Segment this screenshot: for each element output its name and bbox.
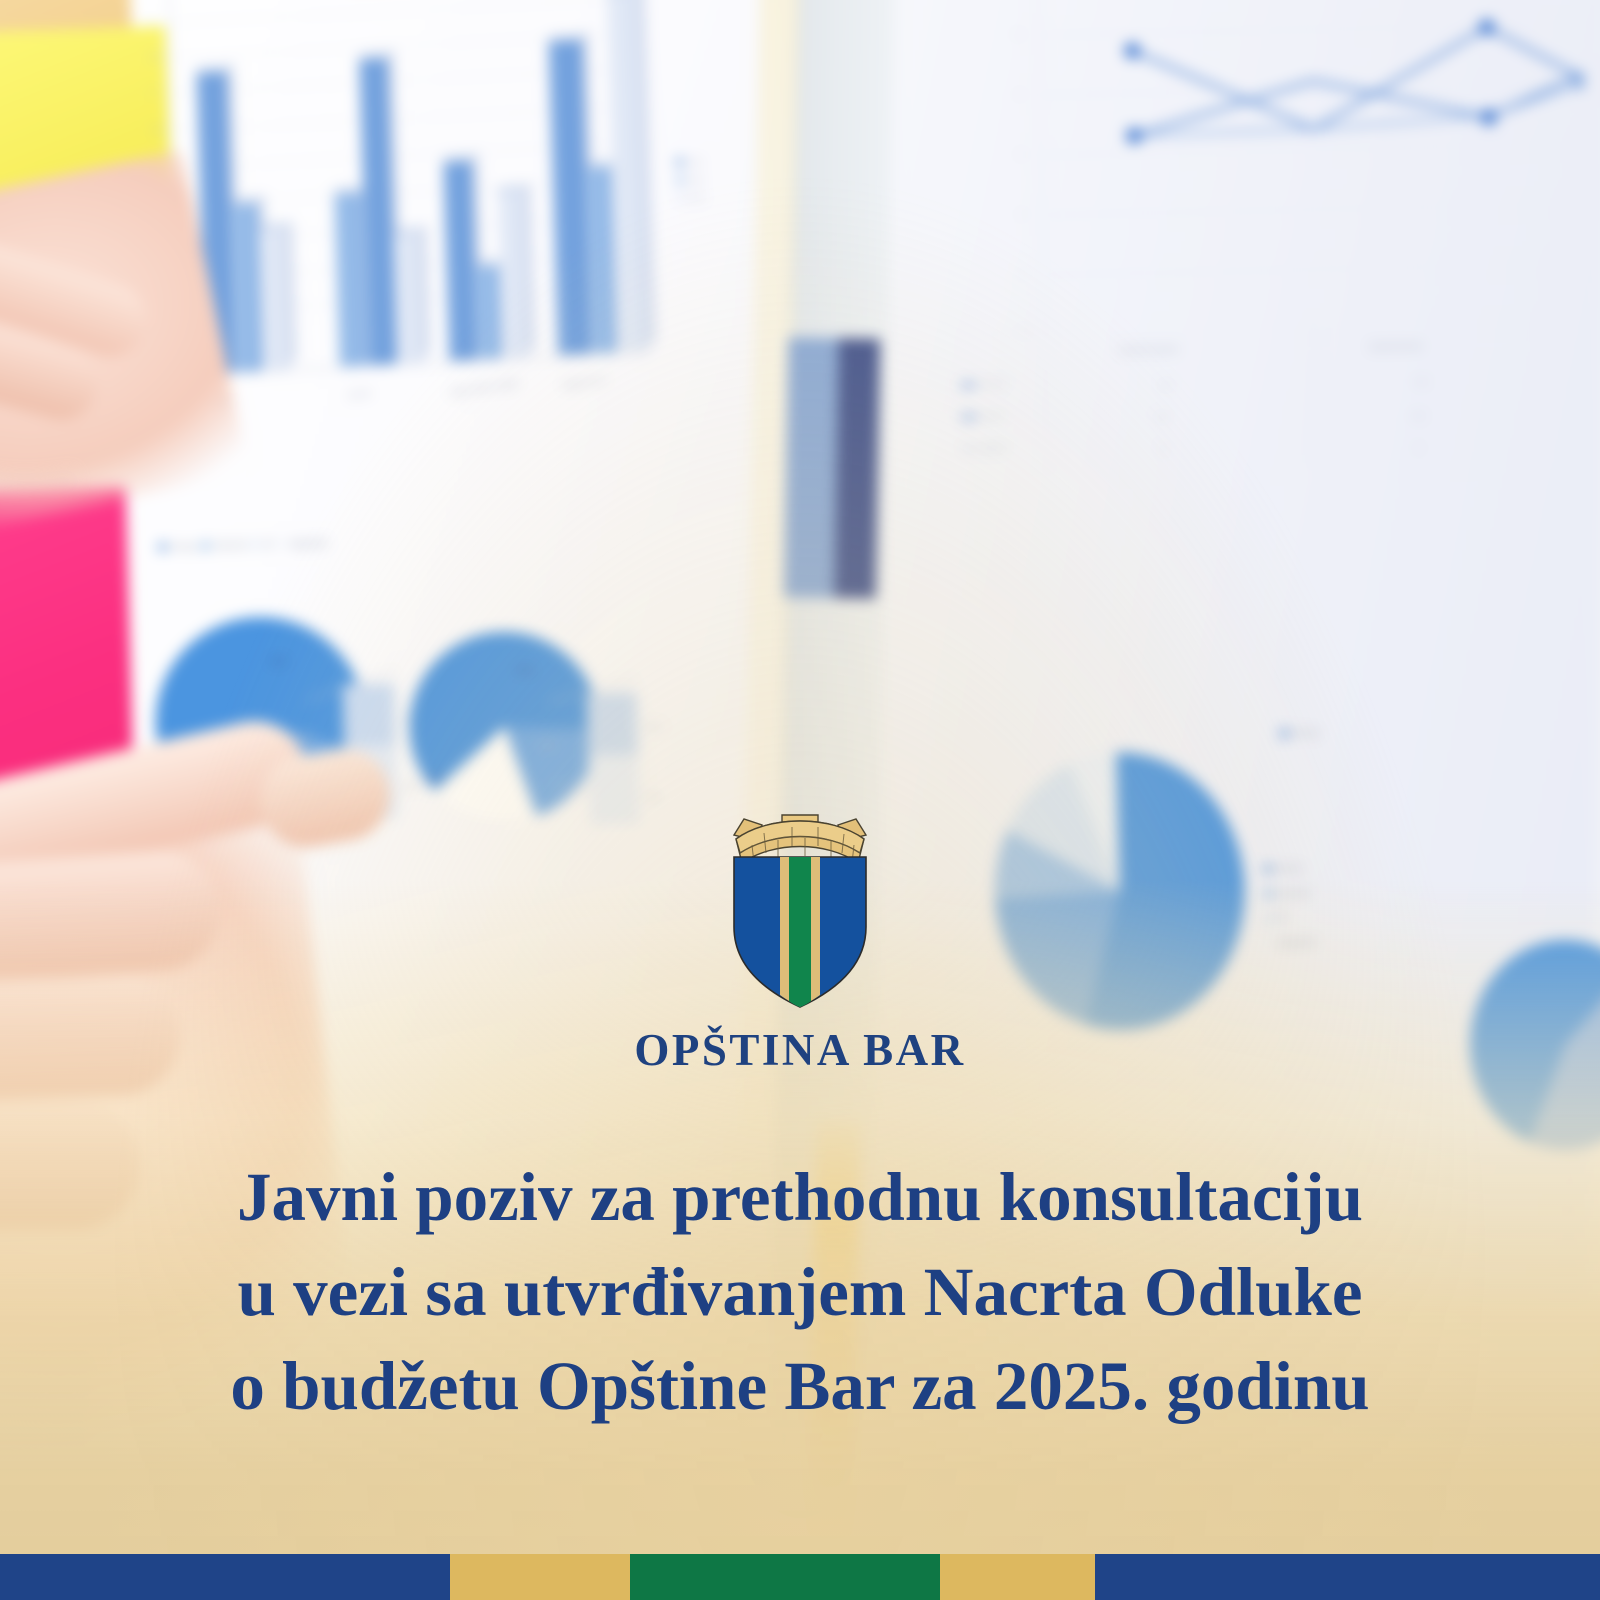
poster-content: OPŠTINA BAR Javni poziv za prethodnu kon… (0, 0, 1600, 1600)
footer-segment-blue-right (1095, 1554, 1600, 1600)
footer-segment-blue-left (0, 1554, 450, 1600)
footer-segment-gold-left (450, 1554, 630, 1600)
poster-canvas: 5 4.5 4 3.5 3 2.5 2 1.5 1 0 (0, 0, 1600, 1600)
headline-line-1: Javni poziv za prethodnu konsultaciju (0, 1150, 1600, 1245)
headline-line-2: u vezi sa utvrđivanjem Nacrta Odluke (0, 1245, 1600, 1340)
organization-name: OPŠTINA BAR (0, 1024, 1600, 1076)
headline-line-3: o budžetu Opštine Bar za 2025. godinu (0, 1339, 1600, 1434)
footer-segment-gold-right (940, 1554, 1095, 1600)
coat-of-arms-icon (714, 795, 886, 1011)
footer-segment-green-mid (630, 1554, 940, 1600)
headline: Javni poziv za prethodnu konsultaciju u … (0, 1150, 1600, 1434)
footer-color-bar (0, 1554, 1600, 1600)
